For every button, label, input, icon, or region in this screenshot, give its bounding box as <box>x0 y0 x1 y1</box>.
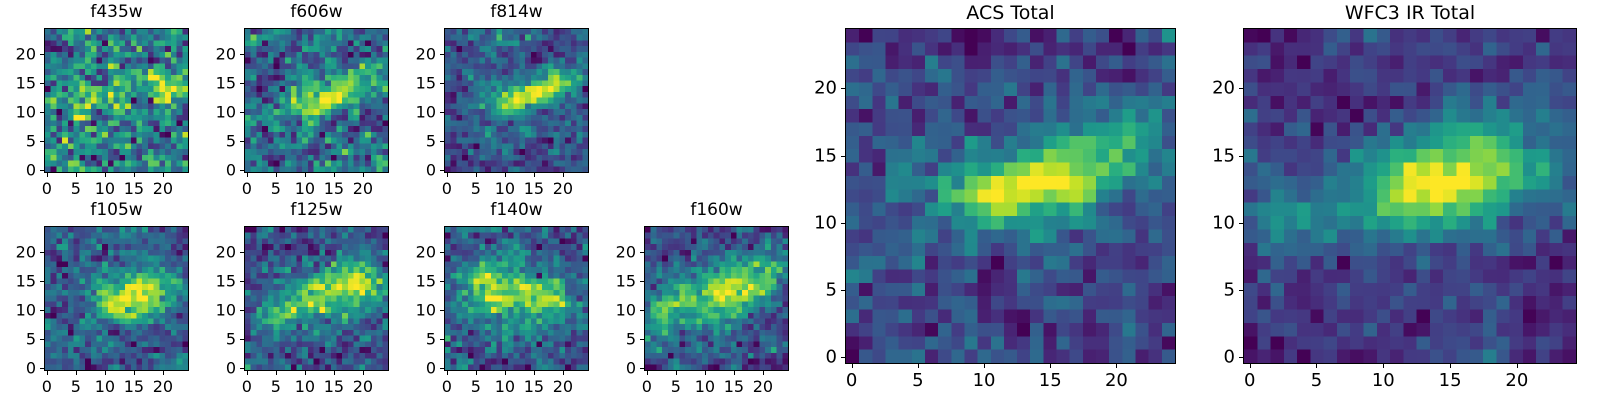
x-tick-label: 20 <box>153 377 173 396</box>
heatmap-axes-acs-total <box>845 28 1176 364</box>
y-tick-label: 20 <box>400 243 436 262</box>
x-tick-label: 0 <box>846 370 857 391</box>
x-tick-mark <box>334 173 335 177</box>
heatmap-image-f160w <box>645 227 788 370</box>
y-tick-label: 5 <box>801 280 837 301</box>
y-tick-mark <box>240 310 244 311</box>
panel-f606w: f606w0510152005101520 <box>200 2 389 199</box>
x-tick-label: 0 <box>242 179 252 198</box>
y-tick-mark <box>40 281 44 282</box>
y-tick-mark <box>240 54 244 55</box>
y-tick-label: 15 <box>0 74 36 93</box>
x-tick-mark <box>563 371 564 375</box>
y-tick-label: 5 <box>1199 280 1235 301</box>
x-tick-label: 10 <box>495 179 515 198</box>
y-tick-label: 15 <box>200 74 236 93</box>
y-tick-mark <box>640 310 644 311</box>
x-tick-label: 20 <box>353 179 373 198</box>
y-tick-label: 15 <box>200 272 236 291</box>
y-tick-mark <box>440 281 444 282</box>
x-tick-mark <box>276 371 277 375</box>
y-tick-label: 0 <box>400 359 436 378</box>
y-tick-label: 10 <box>801 212 837 233</box>
y-tick-mark <box>440 368 444 369</box>
x-tick-mark <box>276 173 277 177</box>
heatmap-image-f140w <box>445 227 588 370</box>
x-tick-mark <box>1050 364 1051 368</box>
x-tick-mark <box>363 371 364 375</box>
heatmap-image-f606w <box>245 29 388 172</box>
x-tick-mark <box>47 371 48 375</box>
y-tick-label: 20 <box>0 45 36 64</box>
y-tick-mark <box>640 339 644 340</box>
x-tick-label: 0 <box>42 377 52 396</box>
x-tick-label: 10 <box>495 377 515 396</box>
x-tick-mark <box>447 371 448 375</box>
x-tick-label: 15 <box>324 179 344 198</box>
x-tick-label: 20 <box>553 377 573 396</box>
y-tick-label: 15 <box>1199 145 1235 166</box>
panel-f160w: f160w0510152005101520 <box>600 200 789 397</box>
heatmap-axes-f140w <box>444 226 589 371</box>
x-tick-mark <box>984 364 985 368</box>
panel-f435w: f435w0510152005101520 <box>0 2 189 199</box>
y-tick-label: 0 <box>200 359 236 378</box>
y-tick-mark <box>40 54 44 55</box>
x-tick-label: 5 <box>71 377 81 396</box>
y-tick-mark <box>40 252 44 253</box>
x-tick-mark <box>134 173 135 177</box>
y-tick-label: 5 <box>400 132 436 151</box>
x-tick-mark <box>105 371 106 375</box>
x-tick-mark <box>1383 364 1384 368</box>
x-tick-label: 10 <box>295 179 315 198</box>
heatmap-image-acs-total <box>846 29 1175 363</box>
heatmap-axes-f435w <box>44 28 189 173</box>
y-tick-mark <box>440 252 444 253</box>
x-tick-label: 20 <box>1505 370 1528 391</box>
y-tick-label: 20 <box>200 45 236 64</box>
panel-f814w: f814w0510152005101520 <box>400 2 589 199</box>
y-tick-mark <box>240 141 244 142</box>
x-tick-mark <box>534 173 535 177</box>
x-tick-label: 5 <box>471 377 481 396</box>
heatmap-axes-f125w <box>244 226 389 371</box>
y-tick-mark <box>240 368 244 369</box>
y-tick-label: 10 <box>200 103 236 122</box>
panel-wfc3-ir-total: WFC3 IR Total0510152005101520 <box>1199 2 1577 390</box>
x-tick-label: 15 <box>124 179 144 198</box>
y-tick-mark <box>40 310 44 311</box>
heatmap-image-f814w <box>445 29 588 172</box>
x-tick-mark <box>676 371 677 375</box>
x-tick-mark <box>505 371 506 375</box>
y-tick-label: 0 <box>200 161 236 180</box>
x-tick-label: 10 <box>1372 370 1395 391</box>
y-tick-mark <box>841 156 845 157</box>
y-tick-mark <box>841 88 845 89</box>
x-tick-mark <box>852 364 853 368</box>
x-tick-label: 10 <box>695 377 715 396</box>
x-tick-label: 20 <box>353 377 373 396</box>
x-tick-label: 15 <box>724 377 744 396</box>
x-tick-label: 5 <box>271 179 281 198</box>
x-tick-mark <box>763 371 764 375</box>
x-tick-label: 5 <box>1311 370 1322 391</box>
heatmap-axes-f814w <box>444 28 589 173</box>
x-tick-mark <box>305 173 306 177</box>
y-tick-mark <box>841 290 845 291</box>
x-tick-label: 0 <box>242 377 252 396</box>
y-tick-label: 15 <box>400 74 436 93</box>
y-tick-label: 10 <box>0 301 36 320</box>
y-tick-mark <box>640 368 644 369</box>
y-tick-mark <box>440 54 444 55</box>
x-tick-label: 10 <box>295 377 315 396</box>
x-tick-label: 5 <box>671 377 681 396</box>
panel-title-f125w: f125w <box>244 200 389 220</box>
x-tick-mark <box>363 173 364 177</box>
y-tick-label: 0 <box>0 359 36 378</box>
x-tick-mark <box>534 371 535 375</box>
panel-title-f814w: f814w <box>444 2 589 22</box>
panel-title-f435w: f435w <box>44 2 189 22</box>
x-tick-mark <box>47 173 48 177</box>
y-tick-label: 10 <box>600 301 636 320</box>
panel-title-f606w: f606w <box>244 2 389 22</box>
y-tick-mark <box>841 357 845 358</box>
x-tick-mark <box>918 364 919 368</box>
y-tick-label: 15 <box>801 145 837 166</box>
y-tick-label: 20 <box>1199 78 1235 99</box>
x-tick-label: 15 <box>524 377 544 396</box>
x-tick-label: 20 <box>753 377 773 396</box>
x-tick-mark <box>134 371 135 375</box>
y-tick-label: 0 <box>801 347 837 368</box>
x-tick-mark <box>505 173 506 177</box>
y-tick-mark <box>40 141 44 142</box>
x-tick-mark <box>163 371 164 375</box>
x-tick-mark <box>105 173 106 177</box>
panel-f105w: f105w0510152005101520 <box>0 200 189 397</box>
y-tick-mark <box>440 310 444 311</box>
x-tick-mark <box>1316 364 1317 368</box>
x-tick-mark <box>476 371 477 375</box>
y-tick-label: 0 <box>400 161 436 180</box>
x-tick-mark <box>734 371 735 375</box>
heatmap-axes-f160w <box>644 226 789 371</box>
y-tick-label: 20 <box>0 243 36 262</box>
x-tick-label: 15 <box>1439 370 1462 391</box>
x-tick-mark <box>447 173 448 177</box>
panel-title-acs-total: ACS Total <box>845 2 1176 24</box>
heatmap-image-f105w <box>45 227 188 370</box>
x-tick-label: 5 <box>71 179 81 198</box>
y-tick-mark <box>1239 88 1243 89</box>
heatmap-axes-wfc3-ir-total <box>1243 28 1577 364</box>
y-tick-mark <box>1239 290 1243 291</box>
x-tick-mark <box>1250 364 1251 368</box>
x-tick-mark <box>1450 364 1451 368</box>
y-tick-mark <box>1239 223 1243 224</box>
x-tick-label: 10 <box>95 179 115 198</box>
x-tick-mark <box>647 371 648 375</box>
y-tick-label: 15 <box>0 272 36 291</box>
y-tick-label: 0 <box>600 359 636 378</box>
x-tick-label: 0 <box>442 179 452 198</box>
y-tick-label: 10 <box>0 103 36 122</box>
y-tick-mark <box>440 141 444 142</box>
y-tick-mark <box>440 339 444 340</box>
x-tick-mark <box>705 371 706 375</box>
panel-title-f160w: f160w <box>644 200 789 220</box>
panel-f140w: f140w0510152005101520 <box>400 200 589 397</box>
x-tick-mark <box>76 371 77 375</box>
y-tick-mark <box>40 339 44 340</box>
y-tick-mark <box>240 252 244 253</box>
y-tick-label: 5 <box>0 132 36 151</box>
panel-acs-total: ACS Total0510152005101520 <box>801 2 1176 390</box>
x-tick-label: 10 <box>973 370 996 391</box>
y-tick-mark <box>440 83 444 84</box>
x-tick-mark <box>334 371 335 375</box>
y-tick-label: 15 <box>600 272 636 291</box>
x-tick-label: 0 <box>42 179 52 198</box>
y-tick-mark <box>240 281 244 282</box>
x-tick-label: 15 <box>524 179 544 198</box>
y-tick-label: 5 <box>200 132 236 151</box>
panel-title-f140w: f140w <box>444 200 589 220</box>
x-tick-mark <box>76 173 77 177</box>
y-tick-label: 5 <box>200 330 236 349</box>
panel-title-wfc3-ir-total: WFC3 IR Total <box>1243 2 1577 24</box>
x-tick-label: 5 <box>471 179 481 198</box>
x-tick-label: 0 <box>642 377 652 396</box>
x-tick-label: 0 <box>442 377 452 396</box>
x-tick-label: 20 <box>553 179 573 198</box>
x-tick-mark <box>476 173 477 177</box>
y-tick-mark <box>40 83 44 84</box>
y-tick-label: 20 <box>200 243 236 262</box>
x-tick-mark <box>1517 364 1518 368</box>
x-tick-label: 5 <box>912 370 923 391</box>
y-tick-label: 0 <box>1199 347 1235 368</box>
y-tick-label: 5 <box>600 330 636 349</box>
panel-f125w: f125w0510152005101520 <box>200 200 389 397</box>
y-tick-mark <box>240 170 244 171</box>
heatmap-axes-f105w <box>44 226 189 371</box>
panel-title-f105w: f105w <box>44 200 189 220</box>
y-tick-label: 20 <box>801 78 837 99</box>
y-tick-label: 20 <box>400 45 436 64</box>
y-tick-mark <box>841 223 845 224</box>
x-tick-label: 15 <box>1039 370 1062 391</box>
heatmap-image-f125w <box>245 227 388 370</box>
x-tick-label: 20 <box>1105 370 1128 391</box>
x-tick-mark <box>163 173 164 177</box>
heatmap-image-f435w <box>45 29 188 172</box>
figure-canvas: f435w0510152005101520f606w05101520051015… <box>0 0 1600 400</box>
y-tick-mark <box>1239 357 1243 358</box>
x-tick-label: 10 <box>95 377 115 396</box>
y-tick-mark <box>240 83 244 84</box>
y-tick-mark <box>640 281 644 282</box>
y-tick-mark <box>240 339 244 340</box>
y-tick-label: 10 <box>400 301 436 320</box>
y-tick-mark <box>240 112 244 113</box>
x-tick-mark <box>563 173 564 177</box>
y-tick-mark <box>40 368 44 369</box>
x-tick-mark <box>247 173 248 177</box>
x-tick-label: 15 <box>324 377 344 396</box>
heatmap-axes-f606w <box>244 28 389 173</box>
x-tick-label: 20 <box>153 179 173 198</box>
y-tick-label: 5 <box>400 330 436 349</box>
x-tick-label: 5 <box>271 377 281 396</box>
y-tick-mark <box>40 170 44 171</box>
y-tick-mark <box>440 170 444 171</box>
y-tick-label: 20 <box>600 243 636 262</box>
y-tick-label: 0 <box>0 161 36 180</box>
x-tick-mark <box>247 371 248 375</box>
x-tick-mark <box>305 371 306 375</box>
y-tick-mark <box>40 112 44 113</box>
y-tick-label: 5 <box>0 330 36 349</box>
y-tick-mark <box>1239 156 1243 157</box>
y-tick-mark <box>440 112 444 113</box>
x-tick-mark <box>1116 364 1117 368</box>
y-tick-label: 15 <box>400 272 436 291</box>
y-tick-mark <box>640 252 644 253</box>
heatmap-image-wfc3-ir-total <box>1244 29 1576 363</box>
y-tick-label: 10 <box>400 103 436 122</box>
x-tick-label: 0 <box>1244 370 1255 391</box>
y-tick-label: 10 <box>1199 212 1235 233</box>
y-tick-label: 10 <box>200 301 236 320</box>
x-tick-label: 15 <box>124 377 144 396</box>
